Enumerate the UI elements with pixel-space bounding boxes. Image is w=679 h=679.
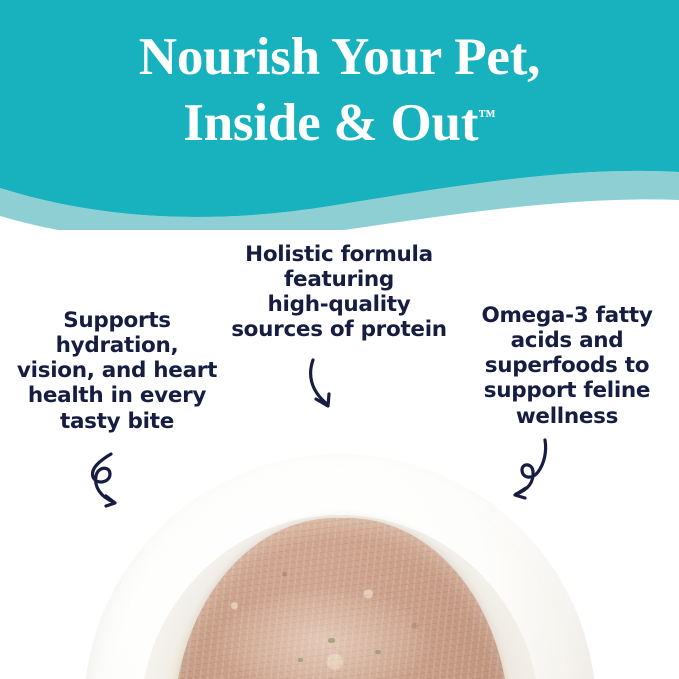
- pate-speck: [375, 650, 381, 654]
- page-title-line-1: Nourish Your Pet,: [0, 24, 679, 90]
- pate-speck: [328, 638, 335, 643]
- callout-hydration-line-5: tasty bite: [8, 409, 226, 434]
- callout-protein: Holistic formula featuring high-quality …: [228, 242, 450, 343]
- trademark-icon: ™: [478, 106, 495, 126]
- callout-omega3: Omega-3 fatty acids and superfoods to su…: [460, 303, 674, 429]
- callout-omega3-line-1: Omega-3 fatty: [460, 303, 674, 328]
- page-title-line-2-wrap: Inside & Out™: [0, 90, 679, 156]
- callout-hydration-line-3: vision, and heart: [8, 358, 226, 383]
- callout-protein-line-3: high-quality: [228, 292, 450, 317]
- callout-hydration-line-2: hydration,: [8, 333, 226, 358]
- food-pate: [174, 518, 509, 679]
- callout-protein-line-1: Holistic formula: [228, 242, 450, 267]
- callout-omega3-line-5: wellness: [460, 404, 674, 429]
- callout-hydration-line-1: Supports: [8, 308, 226, 333]
- callout-omega3-line-2: acids and: [460, 328, 674, 353]
- curly-loop-arrow-down-right-icon: [84, 452, 146, 512]
- callout-omega3-line-3: superfoods to: [460, 353, 674, 378]
- header-banner: Nourish Your Pet, Inside & Out™: [0, 0, 679, 230]
- curly-loop-arrow-down-left-icon: [498, 438, 560, 500]
- callout-hydration-line-4: health in every: [8, 383, 226, 408]
- curved-arrow-down-icon: [302, 358, 350, 414]
- callout-hydration: Supports hydration, vision, and heart he…: [8, 308, 226, 434]
- callout-protein-line-2: featuring: [228, 267, 450, 292]
- page-title-line-2: Inside & Out: [183, 94, 478, 152]
- callout-omega3-line-4: support feline: [460, 378, 674, 403]
- callout-protein-line-4: sources of protein: [228, 317, 450, 342]
- pate-speck: [298, 658, 303, 662]
- page-title: Nourish Your Pet, Inside & Out™: [0, 24, 679, 157]
- infographic-poster: Nourish Your Pet, Inside & Out™: [0, 0, 679, 679]
